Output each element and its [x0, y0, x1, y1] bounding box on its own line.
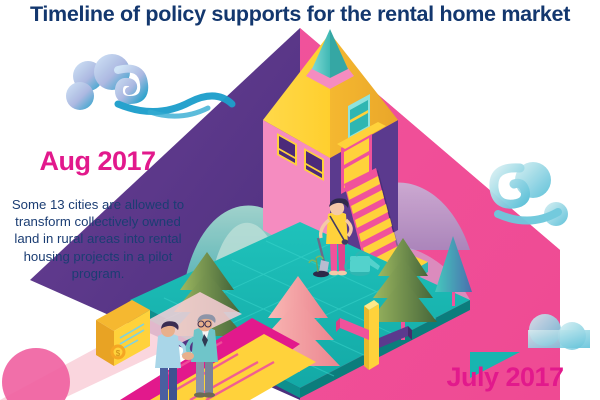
infographic-canvas: $ — [0, 0, 600, 400]
svg-text:$: $ — [116, 349, 121, 358]
page-title: Timeline of policy supports for the rent… — [0, 2, 600, 27]
timeline-date-july-2017: July 2017 — [420, 362, 590, 393]
timeline-date-aug-2017: Aug 2017 — [10, 146, 185, 177]
timeline-body-aug-2017: Some 13 cities are allowed to transform … — [8, 196, 188, 282]
cloud-left — [66, 54, 232, 116]
